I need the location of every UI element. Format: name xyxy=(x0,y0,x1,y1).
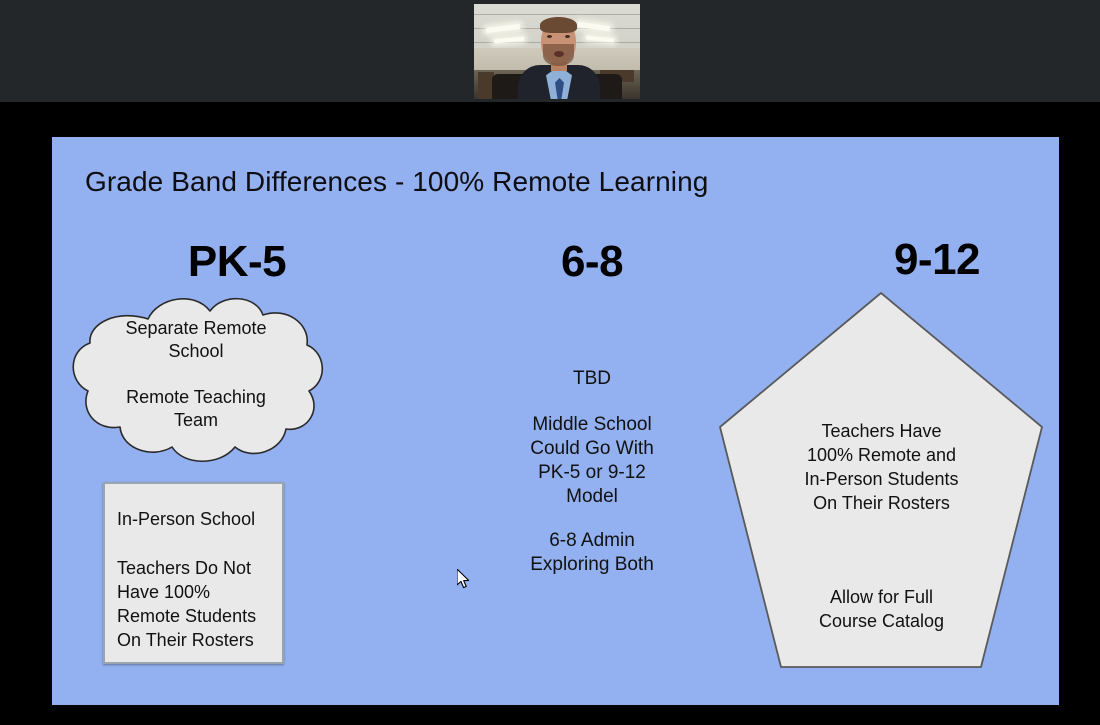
grade-band-heading-9-12: 9-12 xyxy=(832,235,1042,285)
in-person-school-box-body: Teachers Do Not Have 100% Remote Student… xyxy=(117,556,256,652)
in-person-school-box-title: In-Person School xyxy=(117,509,255,530)
middle-band-text-model: Middle School Could Go With PK-5 or 9-12… xyxy=(476,413,708,509)
cloud-text-pk5: Separate Remote School Remote Teaching T… xyxy=(90,317,302,432)
middle-band-text-admin: 6-8 Admin Exploring Both xyxy=(476,529,708,577)
shared-presentation-slide[interactable]: Grade Band Differences - 100% Remote Lea… xyxy=(52,137,1059,705)
pentagon-text-line-group-2: Allow for Full Course Catalog xyxy=(754,585,1009,633)
middle-band-text-tbd: TBD xyxy=(476,367,708,391)
presenter-mouth xyxy=(554,51,564,57)
pentagon-text-line-group-1: Teachers Have 100% Remote and In-Person … xyxy=(754,419,1009,515)
in-person-school-box[interactable]: In-Person School Teachers Do Not Have 10… xyxy=(103,482,284,664)
presenter-video-thumbnail[interactable] xyxy=(474,4,640,99)
presenter-hair xyxy=(540,17,577,33)
presenter-eye xyxy=(565,35,570,38)
pentagon-text-9-12: Teachers Have 100% Remote and In-Person … xyxy=(754,395,1009,705)
grade-band-heading-pk5: PK-5 xyxy=(132,237,342,287)
slide-title: Grade Band Differences - 100% Remote Lea… xyxy=(85,166,708,198)
presenter-eye xyxy=(547,35,552,38)
pentagon-text-line-group-3: *Teacher Planning/Prep Issue In Cohort M… xyxy=(754,703,1009,705)
cloud-text-line-group-1: Separate Remote School xyxy=(90,317,302,363)
cloud-text-line-group-2: Remote Teaching Team xyxy=(90,386,302,432)
ceiling-seam xyxy=(474,14,640,15)
grade-band-heading-6-8: 6-8 xyxy=(487,237,697,287)
